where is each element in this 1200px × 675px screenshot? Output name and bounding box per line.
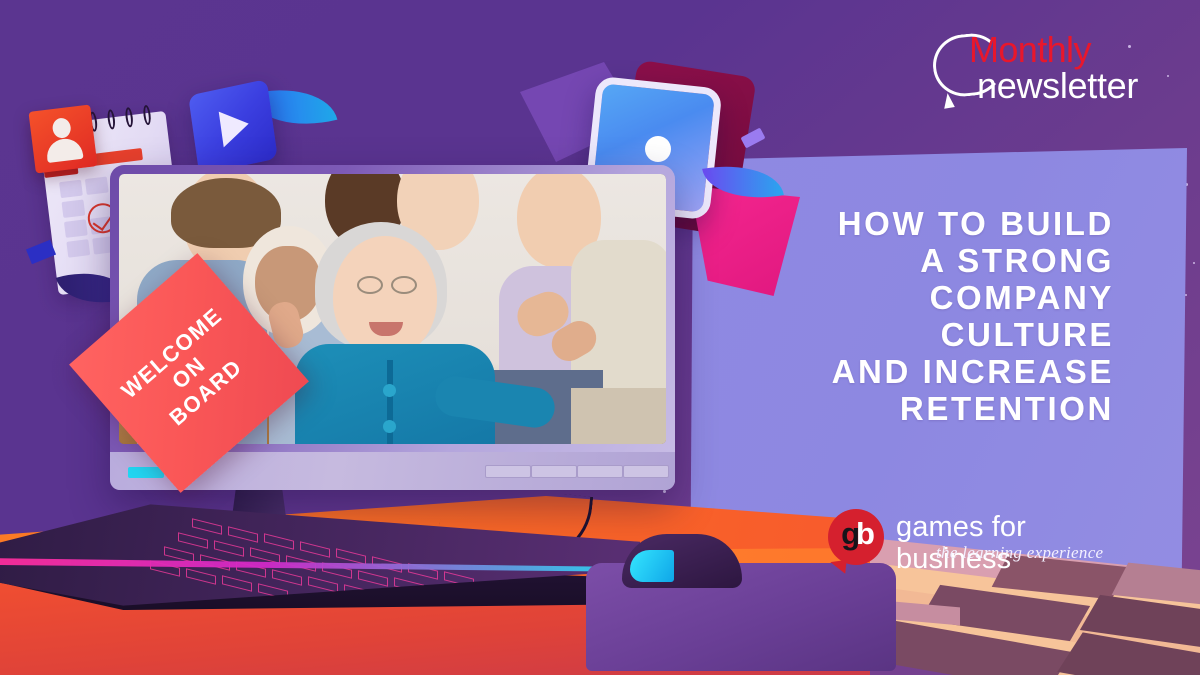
keyboard: [0, 500, 640, 610]
user-badge-icon: [28, 104, 97, 173]
monitor-button-3[interactable]: [577, 465, 623, 478]
play-button-icon: [188, 79, 278, 175]
headline-line-4: CULTURE: [684, 316, 1114, 353]
headline-line-3: COMPANY: [684, 279, 1114, 316]
notification-dot-icon: [645, 136, 671, 162]
headline-line-2: A STRONG: [684, 242, 1114, 279]
page-title: HOW TO BUILD A STRONG COMPANY CULTURE AN…: [684, 205, 1114, 427]
monitor-button-2[interactable]: [531, 465, 577, 478]
logo-monogram-b: b: [856, 518, 871, 549]
logo-monogram: gb: [828, 505, 884, 561]
sparkle-dot: [663, 490, 666, 493]
logo-monogram-g: g: [841, 518, 856, 549]
headline-line-6: RETENTION: [684, 390, 1114, 427]
monitor-button-4[interactable]: [623, 465, 669, 478]
brand-tagline: the learning experience: [936, 543, 1103, 563]
headline-line-5: AND INCREASE: [684, 353, 1114, 390]
blue-chip-shape: [26, 240, 56, 265]
headline-line-1: HOW TO BUILD: [684, 205, 1114, 242]
sparkle-dot: [1193, 262, 1195, 264]
mouse-glow-accent: [630, 550, 674, 582]
newsletter-label-newsletter: newsletter: [977, 66, 1138, 106]
brand-logo[interactable]: gb games for business the learning exper…: [828, 505, 1128, 575]
sparkle-dot: [1185, 294, 1187, 296]
sparkle-dot: [1167, 75, 1169, 77]
newsletter-label-monthly: Monthly: [969, 30, 1091, 70]
monitor-button-1[interactable]: [485, 465, 531, 478]
monthly-newsletter-badge: Monthly newsletter: [933, 28, 1133, 124]
newsletter-banner: WELCOME ON BOARD: [0, 0, 1200, 675]
